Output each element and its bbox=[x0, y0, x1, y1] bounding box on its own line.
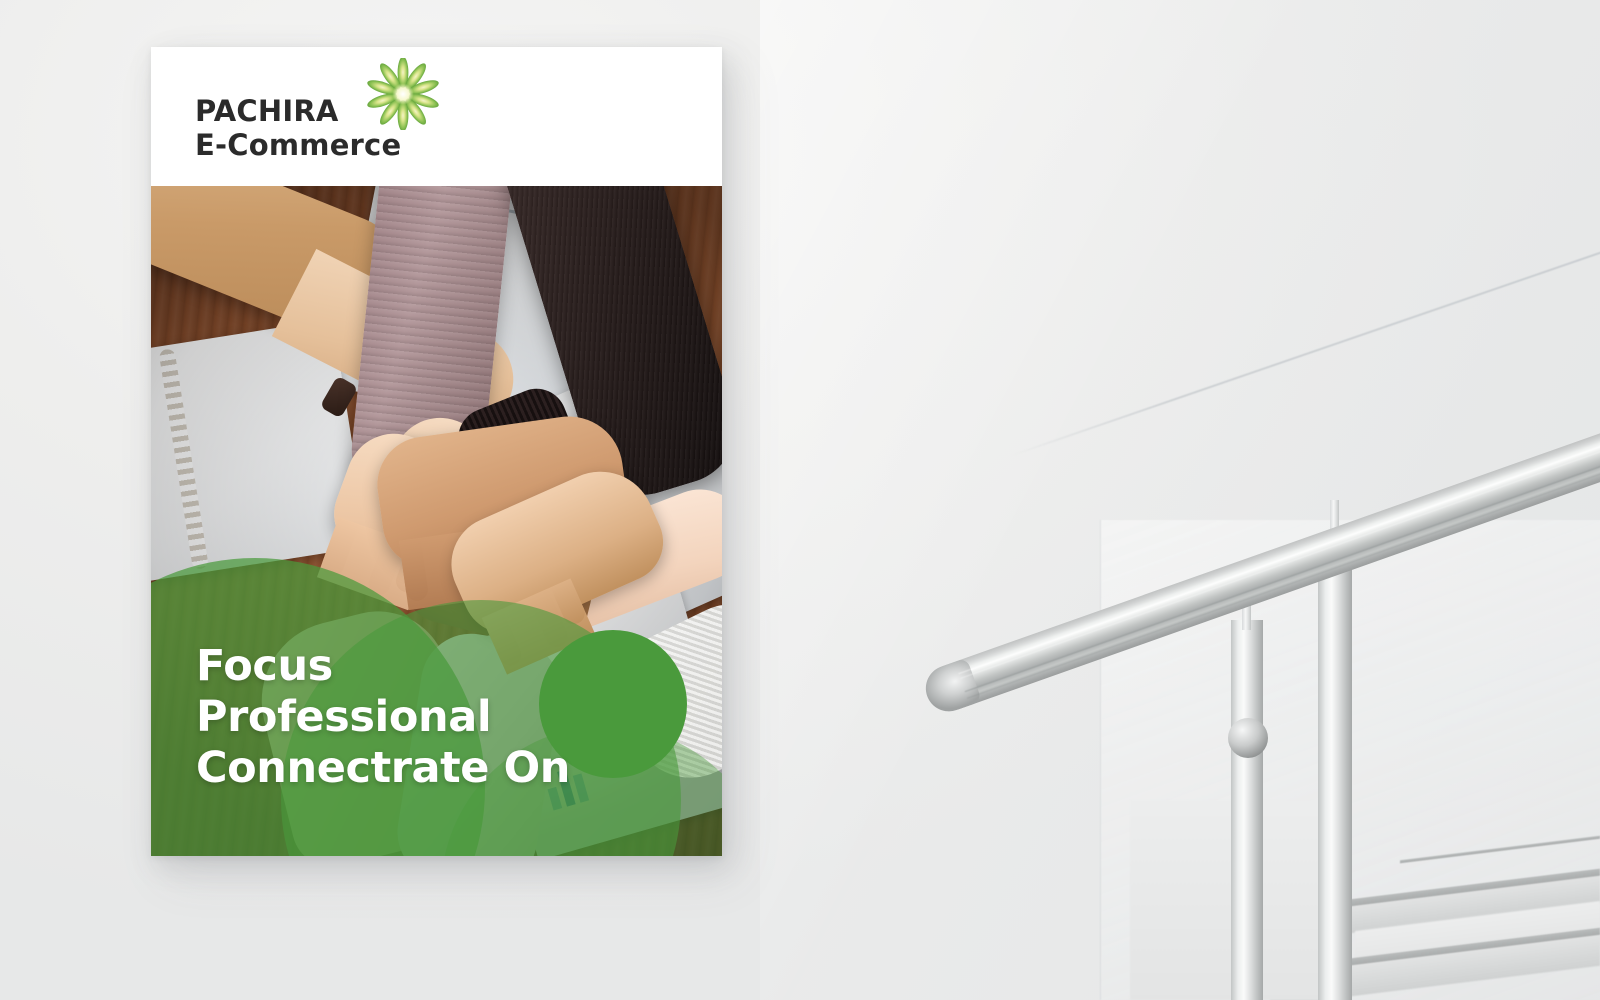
brand-logo[interactable]: PACHIRA E-Commerce bbox=[195, 94, 425, 162]
baluster-post-right bbox=[1318, 548, 1352, 1000]
pachira-flower-logo-icon bbox=[367, 58, 439, 130]
baluster-ball-joint bbox=[1228, 718, 1268, 758]
stair-landing-panel bbox=[1130, 800, 1330, 1000]
scene: PACHIRA E-Commerce bbox=[0, 0, 1600, 1000]
cover-header-band: PACHIRA E-Commerce bbox=[151, 47, 722, 186]
baluster-post-left bbox=[1231, 620, 1263, 1000]
brochure-cover[interactable]: PACHIRA E-Commerce bbox=[151, 47, 722, 856]
brand-name-line2: E-Commerce bbox=[195, 128, 425, 162]
headline-line-3: Connectrate On bbox=[196, 743, 696, 794]
headline-line-1: Focus bbox=[196, 641, 696, 692]
headline-line-2: Professional bbox=[196, 692, 696, 743]
cover-photograph: Focus Professional Connectrate On bbox=[151, 186, 722, 856]
cover-headline: Focus Professional Connectrate On bbox=[196, 641, 696, 794]
